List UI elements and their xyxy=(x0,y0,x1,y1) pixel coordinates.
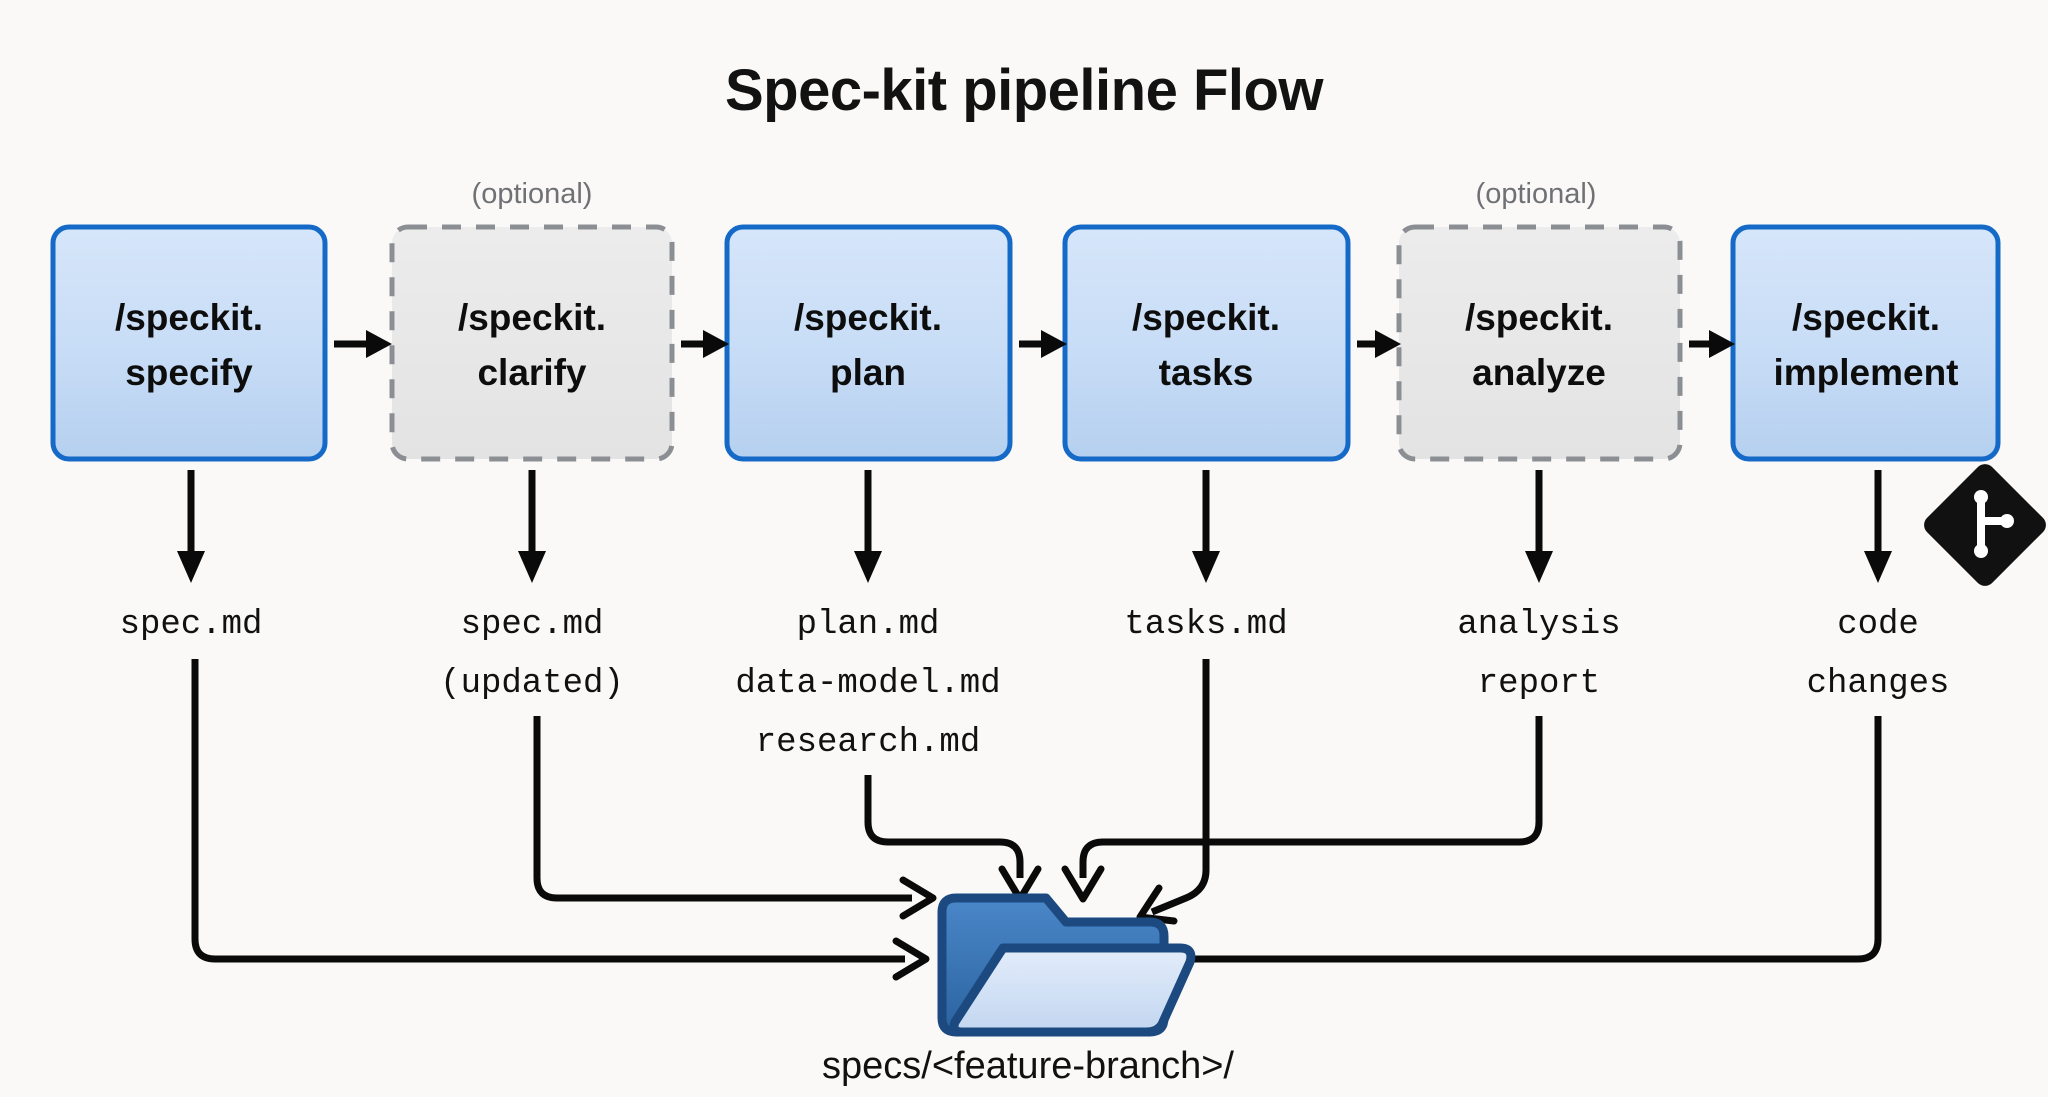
stage-box-clarify-line2: clarify xyxy=(477,352,586,393)
optional-label-analyze: (optional) xyxy=(1476,178,1597,210)
artifact-line: tasks.md xyxy=(1124,606,1287,644)
stage-box-clarify-line1: /speckit. xyxy=(458,297,606,338)
stage-box-plan-line2: plan xyxy=(830,352,906,393)
artifact-line: research.md xyxy=(756,724,980,762)
artifact-line: spec.md xyxy=(461,606,604,644)
pipeline-flow-diagram: Spec-kit pipeline Flow (optional) (optio… xyxy=(0,0,2048,1097)
stage-box-specify-line2: specify xyxy=(125,352,253,393)
artifact-line: spec.md xyxy=(120,606,263,644)
stage-box-implement[interactable]: /speckit. implement xyxy=(1733,227,1998,459)
stage-box-plan[interactable]: /speckit. plan xyxy=(727,227,1010,459)
optional-label-clarify: (optional) xyxy=(472,178,593,210)
stage-box-analyze-line2: analyze xyxy=(1472,352,1606,393)
diagram-canvas: Spec-kit pipeline Flow (optional) (optio… xyxy=(0,0,2048,1097)
artifact-line: analysis xyxy=(1457,606,1620,644)
artifact-label-tasks: tasks.md xyxy=(1124,606,1287,644)
stage-box-tasks-line1: /speckit. xyxy=(1132,297,1280,338)
page-title: Spec-kit pipeline Flow xyxy=(725,58,1324,123)
stage-box-analyze-line1: /speckit. xyxy=(1465,297,1613,338)
artifact-line: plan.md xyxy=(797,606,940,644)
stage-box-plan-line1: /speckit. xyxy=(794,297,942,338)
stage-box-implement-line1: /speckit. xyxy=(1792,297,1940,338)
stage-box-tasks[interactable]: /speckit. tasks xyxy=(1065,227,1348,459)
folder-icon[interactable] xyxy=(942,898,1191,1032)
stage-box-implement-line2: implement xyxy=(1773,352,1958,393)
artifact-line: report xyxy=(1478,665,1600,703)
artifact-line: data-model.md xyxy=(735,665,1000,703)
artifact-line: (updated) xyxy=(440,665,624,703)
artifact-line: changes xyxy=(1807,665,1950,703)
stage-box-tasks-line2: tasks xyxy=(1159,352,1254,393)
artifact-label-specify: spec.md xyxy=(120,606,263,644)
stage-box-clarify[interactable]: /speckit. clarify xyxy=(392,227,672,459)
stage-box-analyze[interactable]: /speckit. analyze xyxy=(1399,227,1680,459)
stage-box-specify[interactable]: /speckit. specify xyxy=(53,227,325,459)
folder-caption: specs/<feature-branch>/ xyxy=(822,1045,1234,1087)
stage-box-specify-line1: /speckit. xyxy=(115,297,263,338)
artifact-line: code xyxy=(1837,606,1919,644)
